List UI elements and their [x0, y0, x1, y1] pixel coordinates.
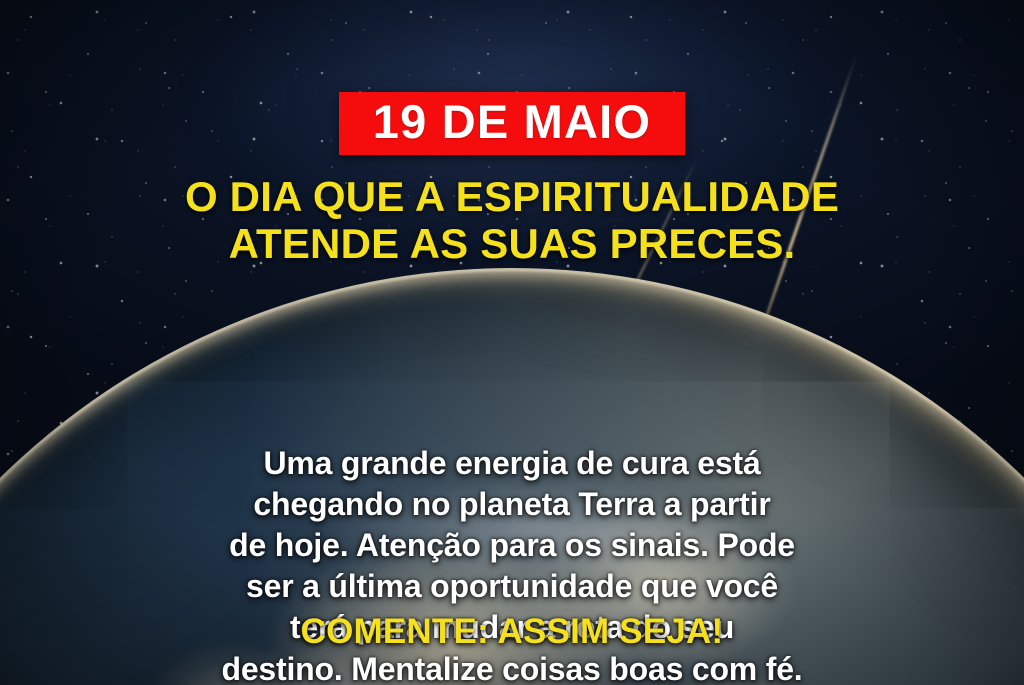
call-to-action-text: COMENTE: ASSIM SEJA! — [0, 612, 1024, 652]
date-banner-label: 19 DE MAIO — [373, 97, 651, 146]
poster-content: 19 DE MAIO O DIA QUE A ESPIRITUALIDADE A… — [0, 0, 1024, 685]
date-banner: 19 DE MAIO — [339, 92, 685, 155]
headline-text: O DIA QUE A ESPIRITUALIDADE ATENDE AS SU… — [185, 173, 839, 267]
poster: 19 DE MAIO O DIA QUE A ESPIRITUALIDADE A… — [0, 0, 1024, 685]
